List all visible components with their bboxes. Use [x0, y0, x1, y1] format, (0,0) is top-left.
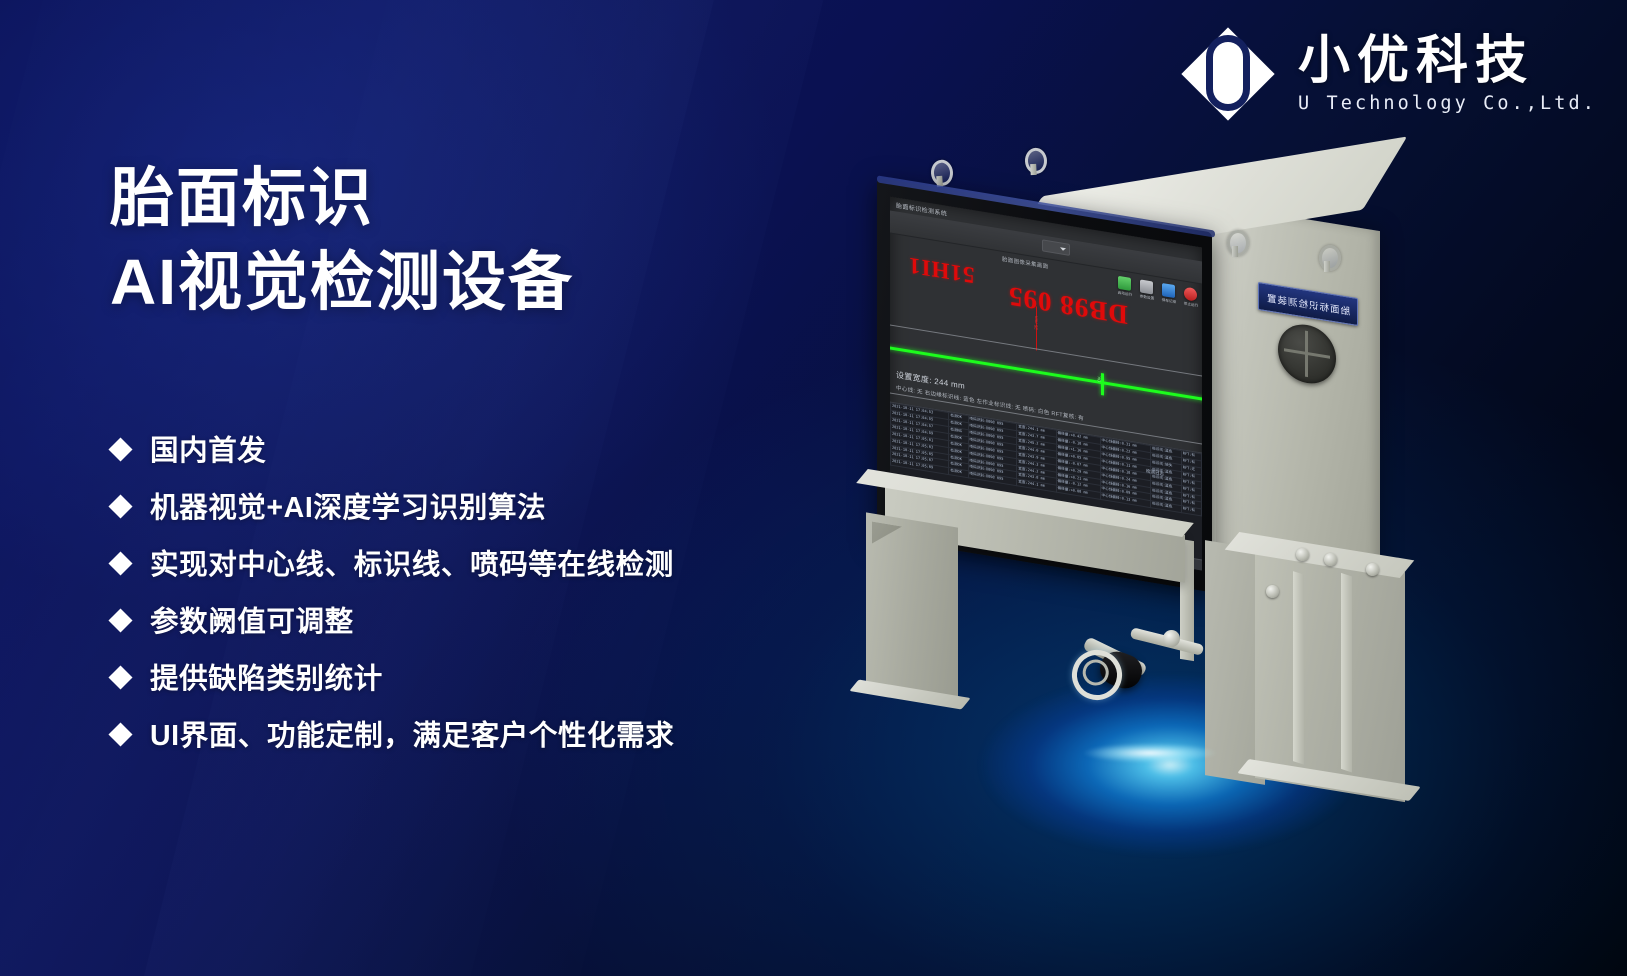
- machine-cabinet-body: [1205, 203, 1380, 576]
- eyebolt-shaft: [1324, 261, 1330, 272]
- measure-label: 25 mm: [1033, 316, 1038, 331]
- feature-list: 国内首发 机器视觉+AI深度学习识别算法 实现对中心线、标识线、喷码等在线检测 …: [112, 420, 674, 762]
- page-title-line-2: AI视觉检测设备: [110, 240, 574, 324]
- base-rib: [1341, 573, 1352, 773]
- edge-marker-bar: [1101, 373, 1104, 395]
- eyebolt-ring: [1227, 230, 1249, 256]
- list-item: 国内首发: [112, 420, 674, 477]
- eyebolt-shaft: [1232, 246, 1238, 257]
- brand-text: 小优科技 U Technology Co.,Ltd.: [1298, 34, 1597, 114]
- camera-arm-joint: [1163, 630, 1180, 647]
- lifting-eyebolt-icon: [1226, 230, 1244, 256]
- lifting-eyebolt-icon: [1023, 148, 1042, 175]
- start-run-glyph: [1118, 276, 1131, 291]
- diamond-bullet-icon: [108, 722, 132, 746]
- mount-bolt-icon: [1266, 585, 1279, 598]
- stop-glyph: [1184, 287, 1197, 302]
- diamond-bullet-icon: [108, 437, 132, 461]
- detected-code-primary: DB98 095: [1008, 280, 1128, 331]
- eyebolt-shaft: [1030, 164, 1037, 175]
- toolbar-label: 停止运行: [1183, 301, 1197, 309]
- lifting-eyebolt-icon: [1318, 245, 1336, 271]
- feature-label: 参数阙值可调整: [150, 599, 354, 640]
- toolbar-label: 保存记录: [1161, 297, 1175, 305]
- list-item: 实现对中心线、标识线、喷码等在线检测: [112, 534, 674, 591]
- list-item: 提供缺陷类别统计: [112, 648, 674, 705]
- page-title-line-1: 胎面标识: [110, 156, 574, 240]
- feature-label: 实现对中心线、标识线、喷码等在线检测: [150, 542, 674, 583]
- stop-icon[interactable]: 停止运行: [1182, 286, 1199, 309]
- settings-glyph: [1140, 279, 1153, 294]
- settings-icon[interactable]: 参数设置: [1138, 279, 1155, 302]
- page-title: 胎面标识 AI视觉检测设备: [110, 156, 574, 325]
- left-leg-panel: [866, 512, 958, 707]
- diamond-bullet-icon: [108, 494, 132, 518]
- diamond-bullet-icon: [108, 608, 132, 632]
- mount-bolt-icon: [1296, 548, 1309, 561]
- lifting-eyebolt-icon: [929, 159, 949, 186]
- toolbar-label: 启动运行: [1117, 290, 1131, 298]
- logo-u-shape: [1213, 42, 1243, 104]
- brand-logo: 小优科技 U Technology Co.,Ltd.: [1180, 26, 1597, 122]
- toolbar-label: 参数设置: [1139, 294, 1153, 302]
- feature-label: 提供缺陷类别统计: [150, 656, 383, 697]
- feature-label: 国内首发: [150, 428, 266, 469]
- list-item: 机器视觉+AI深度学习识别算法: [112, 477, 674, 534]
- poster-canvas: 小优科技 U Technology Co.,Ltd. 胎面标识 AI视觉检测设备…: [0, 0, 1627, 976]
- list-item: 参数阙值可调整: [112, 591, 674, 648]
- vent-cross-vertical: [1305, 331, 1308, 377]
- save-icon[interactable]: 保存记录: [1160, 283, 1177, 306]
- diamond-u-logo-icon: [1180, 26, 1276, 122]
- mount-bolt-icon: [1366, 563, 1379, 576]
- diamond-bullet-icon: [108, 665, 132, 689]
- base-rib: [1293, 571, 1304, 765]
- diamond-bullet-icon: [108, 551, 132, 575]
- start-run-icon[interactable]: 启动运行: [1116, 275, 1133, 298]
- brand-name-en: U Technology Co.,Ltd.: [1298, 93, 1597, 114]
- detected-code-secondary: 51HI1: [908, 251, 974, 288]
- feature-label: UI界面、功能定制，满足客户个性化需求: [150, 713, 674, 754]
- save-glyph: [1162, 283, 1175, 298]
- feature-label: 机器视觉+AI深度学习识别算法: [150, 485, 546, 526]
- brand-name-cn: 小优科技: [1298, 34, 1597, 89]
- mount-bolt-icon: [1324, 553, 1337, 566]
- eyebolt-ring: [1319, 245, 1341, 271]
- edge-marker-label: OK: [1096, 376, 1101, 383]
- list-item: UI界面、功能定制，满足客户个性化需求: [112, 705, 674, 762]
